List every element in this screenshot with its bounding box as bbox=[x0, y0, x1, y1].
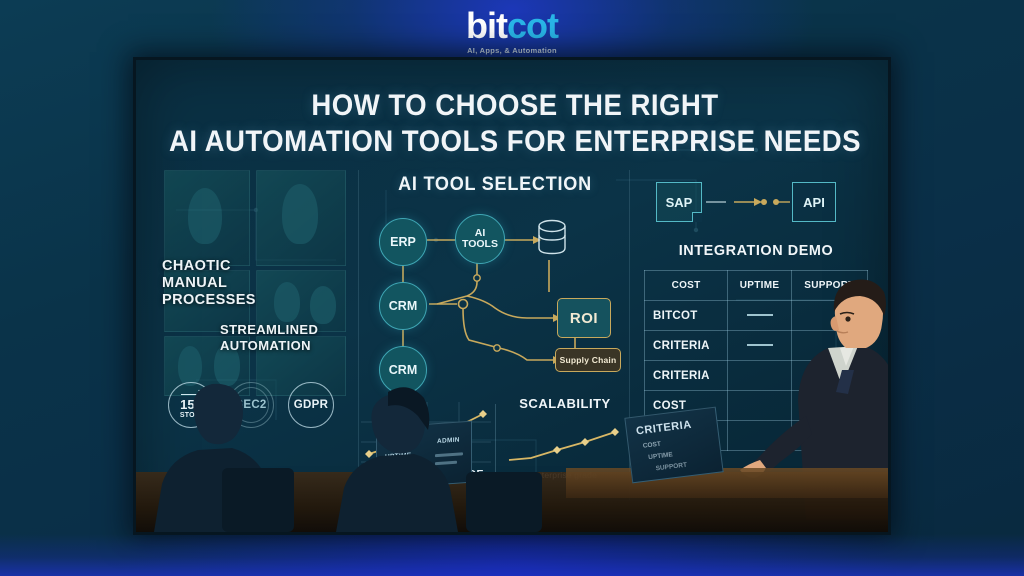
audience-figures bbox=[136, 372, 891, 532]
logo-cot-text: cot bbox=[507, 5, 558, 46]
node-erp-label: ERP bbox=[390, 236, 416, 249]
label-chaotic-manual-processes: CHAOTIC MANUAL PROCESSES bbox=[162, 258, 282, 309]
node-crm-1[interactable]: CRM bbox=[379, 282, 427, 330]
sap-label: SAP bbox=[666, 195, 693, 210]
page-title: HOW TO CHOOSE THE RIGHT AI AUTOMATION TO… bbox=[136, 88, 891, 160]
table-header-cost: COST bbox=[645, 271, 728, 301]
logo-bit-text: bit bbox=[466, 5, 507, 46]
api-box[interactable]: API bbox=[792, 182, 836, 222]
logo-tagline: AI, Apps, & Automation bbox=[0, 46, 1024, 55]
box-roi-label: ROI bbox=[570, 310, 598, 327]
bottom-glow-decor bbox=[0, 534, 1024, 576]
table-cell-bitcot: BITCOT bbox=[645, 301, 728, 331]
presentation-screen: HOW TO CHOOSE THE RIGHT AI AUTOMATION TO… bbox=[133, 57, 891, 535]
node-crm-1-label: CRM bbox=[389, 300, 417, 313]
node-ai-tools[interactable]: AI TOOLS bbox=[455, 214, 505, 264]
database-cylinder-icon bbox=[535, 218, 569, 262]
label-streamlined-automation: STREAMLINED AUTOMATION bbox=[220, 322, 348, 354]
logo-wordmark: bitcot bbox=[0, 8, 1024, 44]
title-line-2: AI AUTOMATION TOOLS FOR ENTERPRISE NEEDS bbox=[166, 124, 863, 160]
box-roi[interactable]: ROI bbox=[557, 298, 611, 338]
infographic-canvas: bitcot AI, Apps, & Automation bbox=[0, 0, 1024, 576]
box-supply-chain-label: Supply Chain bbox=[560, 355, 617, 365]
api-label: API bbox=[803, 195, 825, 210]
node-ai-tools-label-2: TOOLS bbox=[462, 239, 498, 251]
table-cell-criteria-1: CRITERIA bbox=[645, 331, 728, 361]
node-erp[interactable]: ERP bbox=[379, 218, 427, 266]
integration-connector bbox=[704, 192, 796, 212]
foreground-scene: COST UPTIME SUPPORT ADMIN CRITERIA COST … bbox=[136, 372, 891, 532]
center-heading: AI TOOL SELECTION bbox=[366, 174, 624, 196]
box-supply-chain[interactable]: Supply Chain bbox=[555, 348, 621, 372]
sap-document-icon[interactable]: SAP bbox=[656, 182, 702, 222]
title-line-1: HOW TO CHOOSE THE RIGHT bbox=[166, 88, 863, 124]
brand-logo: bitcot AI, Apps, & Automation bbox=[0, 8, 1024, 55]
